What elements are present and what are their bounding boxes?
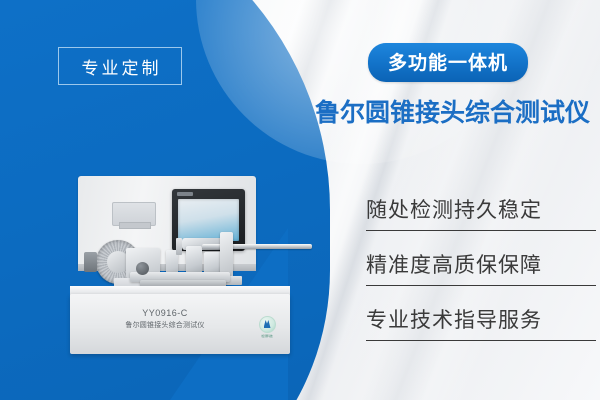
feature-list: 随处检测持久稳定 精准度高质保保障 专业技术指导服务 <box>366 190 596 355</box>
badge-label: 多功能一体机 <box>388 53 508 74</box>
manufacturer-logo: 检测科技 <box>258 316 276 338</box>
feature-item: 精准度高质保保障 <box>366 245 596 286</box>
product-name: 鲁尔圆锥接头综合测试仪 <box>70 320 260 330</box>
adjust-knob[interactable] <box>136 262 149 275</box>
page-title: 鲁尔圆锥接头综合测试仪 <box>310 93 595 129</box>
logo-caption: 检测科技 <box>258 334 276 338</box>
feature-item: 随处检测持久稳定 <box>366 190 596 231</box>
feature-item: 专业技术指导服务 <box>366 300 596 341</box>
machine-side-plate <box>112 202 156 226</box>
hmi-brand-logo <box>177 192 193 196</box>
feature-label: 精准度高质保保障 <box>366 249 596 279</box>
disc-clamp-tab <box>84 252 97 272</box>
custom-tag-label: 专业定制 <box>79 54 162 79</box>
product-banner: 专业定制 多功能一体机 鲁尔圆锥接头综合测试仪 随处检测持久稳定 精准度高质保保… <box>0 0 600 400</box>
custom-tag: 专业定制 <box>58 47 182 85</box>
feature-label: 随处检测持久稳定 <box>366 194 596 224</box>
rod-end-cap <box>176 238 182 255</box>
machine-base: YY0916-C 鲁尔圆锥接头综合测试仪 检测科技 <box>70 294 290 354</box>
machine-nameplate: YY0916-C 鲁尔圆锥接头综合测试仪 <box>70 308 260 330</box>
product-machine: YY0916-C 鲁尔圆锥接头综合测试仪 检测科技 <box>70 176 320 376</box>
model-number: YY0916-C <box>70 308 260 318</box>
logo-mark-icon <box>259 316 276 333</box>
badge-pill: 多功能一体机 <box>368 43 528 82</box>
feature-label: 专业技术指导服务 <box>366 304 596 334</box>
guide-rod <box>202 244 312 249</box>
